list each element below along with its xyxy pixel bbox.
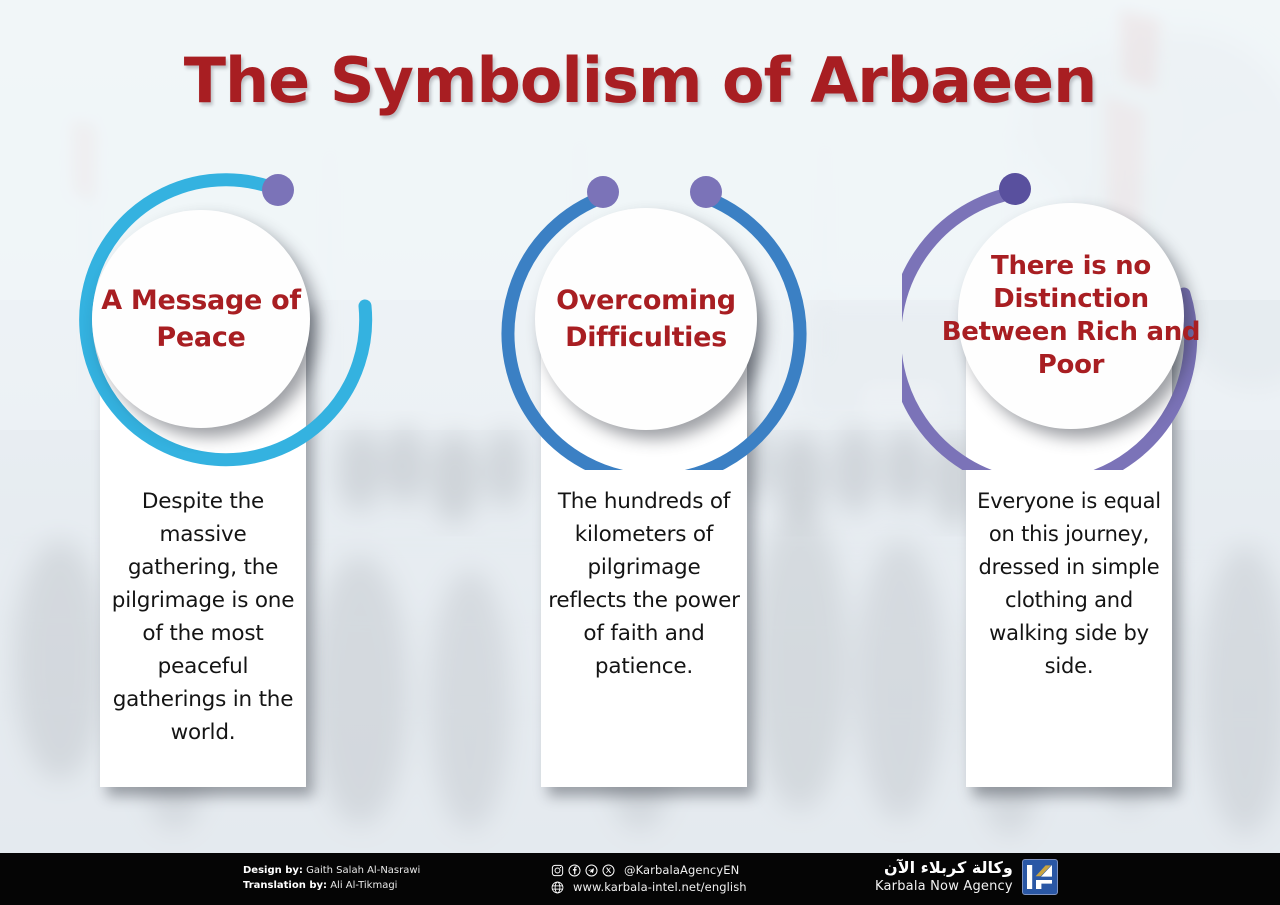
design-label: Design by: — [243, 865, 303, 876]
social-handle[interactable]: @KarbalaAgencyEN — [624, 862, 739, 879]
heading-circle: Overcoming Difficulties — [535, 208, 757, 430]
x-icon[interactable] — [602, 864, 615, 877]
heading-circle: There is no Distinction Between Rich and… — [958, 203, 1184, 429]
credits-block: Design by: Gaith Salah Al-Nasrawi Transl… — [243, 863, 420, 893]
social-links-block: @KarbalaAgencyEN www.karbala-intel.net/e… — [551, 862, 747, 896]
brand-text: وكالة كربلاء الآن Karbala Now Agency — [875, 858, 1013, 895]
facebook-icon[interactable] — [568, 864, 581, 877]
footer-bar: Design by: Gaith Salah Al-Nasrawi Transl… — [0, 853, 1280, 905]
translation-credit: Translation by: Ali Al-Tikmagi — [243, 878, 420, 893]
heading-text: Overcoming Difficulties — [523, 282, 769, 356]
translation-label: Translation by: — [243, 880, 327, 891]
instagram-icon[interactable] — [551, 864, 564, 877]
telegram-icon[interactable] — [585, 864, 598, 877]
page-title: The Symbolism of Arbaeen — [0, 44, 1280, 117]
brand-name-arabic: وكالة كربلاء الآن — [875, 858, 1013, 878]
heading-text: There is no Distinction Between Rich and… — [928, 250, 1214, 382]
brand-block: وكالة كربلاء الآن Karbala Now Agency — [875, 858, 1058, 895]
design-credit: Design by: Gaith Salah Al-Nasrawi — [243, 863, 420, 878]
website-url[interactable]: www.karbala-intel.net/english — [573, 879, 747, 896]
brand-name-english: Karbala Now Agency — [875, 878, 1013, 895]
social-handle-row[interactable]: @KarbalaAgencyEN — [551, 862, 747, 879]
heading-text: A Message of Peace — [80, 282, 322, 356]
globe-icon[interactable] — [551, 881, 564, 894]
body-text: Everyone is equal on this journey, dress… — [972, 485, 1166, 683]
body-text: The hundreds of kilometers of pilgrimage… — [547, 485, 741, 683]
karbala-now-logo-icon — [1022, 859, 1058, 895]
body-text: Despite the massive gathering, the pilgr… — [106, 485, 300, 749]
heading-circle: A Message of Peace — [92, 210, 310, 428]
translation-name: Ali Al-Tikmagi — [330, 880, 397, 891]
design-name: Gaith Salah Al-Nasrawi — [306, 865, 420, 876]
website-row[interactable]: www.karbala-intel.net/english — [551, 879, 747, 896]
